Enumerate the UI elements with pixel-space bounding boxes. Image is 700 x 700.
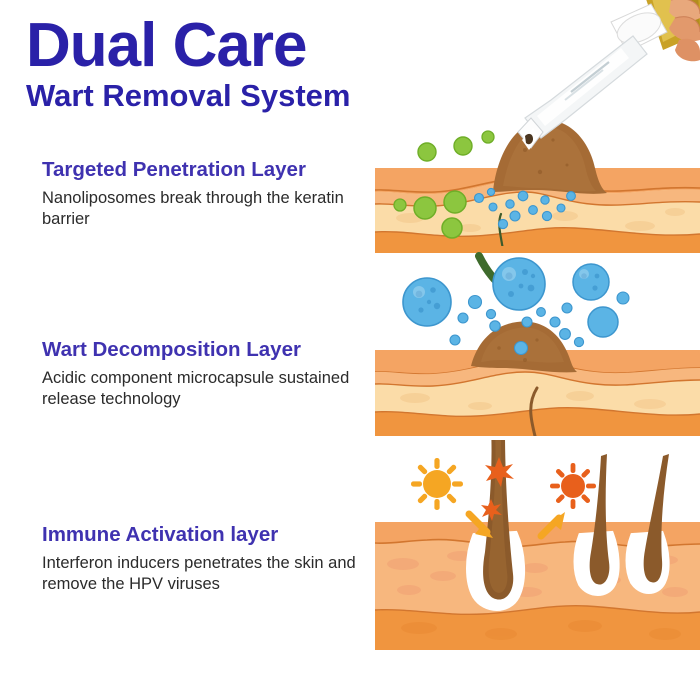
hand-holding-applicator xyxy=(669,0,700,61)
feature-3-heading: Immune Activation layer xyxy=(42,523,362,548)
infographic-page: Dual Care Wart Removal System Targeted P… xyxy=(0,0,700,700)
feature-2-body: Acidic component microcapsule sustained … xyxy=(42,368,362,410)
page-subtitle: Wart Removal System xyxy=(26,79,406,113)
starburst-orange-large xyxy=(550,463,596,509)
green-nanoparticles-outside-1 xyxy=(418,131,494,161)
starburst-orange-small-top xyxy=(485,457,514,487)
blue-microcapsule-plain xyxy=(588,307,618,337)
brand-title-block: Dual Care Wart Removal System xyxy=(26,16,406,113)
starburst-gold-large xyxy=(411,458,463,510)
illustration-panel-targeted-penetration xyxy=(375,0,700,250)
feature-1-heading: Targeted Penetration Layer xyxy=(42,158,362,183)
feature-block-3: Immune Activation layer Interferon induc… xyxy=(42,523,362,595)
feature-2-heading: Wart Decomposition Layer xyxy=(42,338,362,363)
illustration-panel-wart-decomposition xyxy=(375,246,700,436)
feature-3-body: Interferon inducers penetrates the skin … xyxy=(42,553,362,595)
feature-block-1: Targeted Penetration Layer Nanoliposomes… xyxy=(42,158,362,230)
illustration-panel-immune-activation xyxy=(375,440,700,655)
feature-block-2: Wart Decomposition Layer Acidic componen… xyxy=(42,338,362,410)
feature-1-body: Nanoliposomes break through the keratin … xyxy=(42,188,362,230)
page-title: Dual Care xyxy=(26,16,406,77)
